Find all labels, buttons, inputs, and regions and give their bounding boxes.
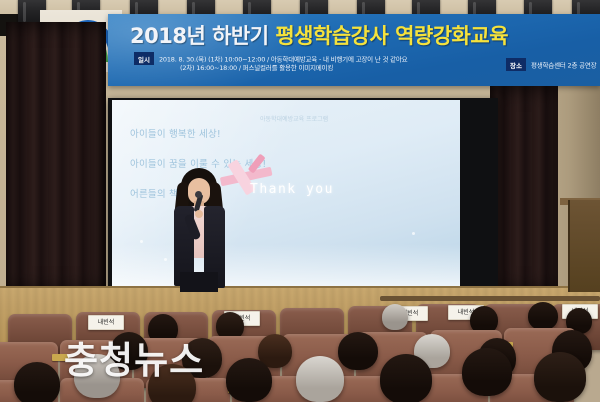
- stage-curtain-right: [490, 86, 558, 292]
- stage-curtain-left: [6, 22, 106, 292]
- event-banner: 2018년 하반기 평생학습강사 역량강화교육 일시2018. 8. 30.(목…: [108, 14, 600, 86]
- audience-head: [226, 358, 272, 402]
- banner-venue-value: 평생학습센터 2층 공연장: [531, 62, 596, 70]
- banner-date-row-2: (2차) 16:00~18:00 / 퍼스널컬러를 활용한 이미지메이킹: [180, 62, 333, 72]
- slide-thank-you-text: Thank you: [250, 182, 334, 197]
- slide-dot: [164, 258, 167, 261]
- press-photo: 2018년 하반기 평생학습강사 역량강화교육 일시2018. 8. 30.(목…: [0, 0, 600, 402]
- audience-head: [462, 348, 512, 396]
- slide-line-1: 아이들이 행복한 세상!: [130, 126, 221, 140]
- audience-head: [528, 302, 558, 330]
- banner-venue-row: 장소평생학습센터 2층 공연장: [506, 58, 596, 71]
- podium: [568, 200, 600, 292]
- audience-head: [380, 354, 432, 402]
- slide-snow-graphic: [112, 244, 460, 286]
- microphone-head-icon: [195, 191, 202, 198]
- slide-dot: [412, 232, 415, 235]
- audience-head: [534, 352, 586, 402]
- audience-head: [338, 332, 378, 370]
- slide-dot: [140, 240, 143, 243]
- vip-seat-sign: 내빈석: [88, 315, 124, 330]
- speaker-hand: [195, 210, 203, 218]
- banner-title-main: 평생학습강사 역량강화교육: [275, 24, 508, 48]
- banner-date-line-2: (2차) 16:00~18:00 / 퍼스널컬러를 활용한 이미지메이킹: [180, 64, 333, 72]
- banner-title: 2018년 하반기 평생학습강사 역량강화교육: [130, 20, 508, 50]
- news-watermark: 충청뉴스: [64, 330, 204, 384]
- speaker-lower-body: [180, 272, 218, 292]
- banner-title-year: 2018년 하반기: [130, 24, 269, 48]
- banner-date-chip: 일시: [134, 52, 154, 65]
- speaker-presenter: [168, 168, 230, 292]
- audience-head: [296, 356, 344, 402]
- banner-venue-chip: 장소: [506, 58, 526, 71]
- audience-head: [382, 304, 408, 330]
- audience-head: [14, 362, 60, 402]
- slide-header-text: 아동학대예방교육 프로그램: [260, 114, 328, 123]
- projection-screen: 아동학대예방교육 프로그램 아이들이 행복한 세상! 아이들이 꿈을 이룰 수 …: [112, 100, 460, 286]
